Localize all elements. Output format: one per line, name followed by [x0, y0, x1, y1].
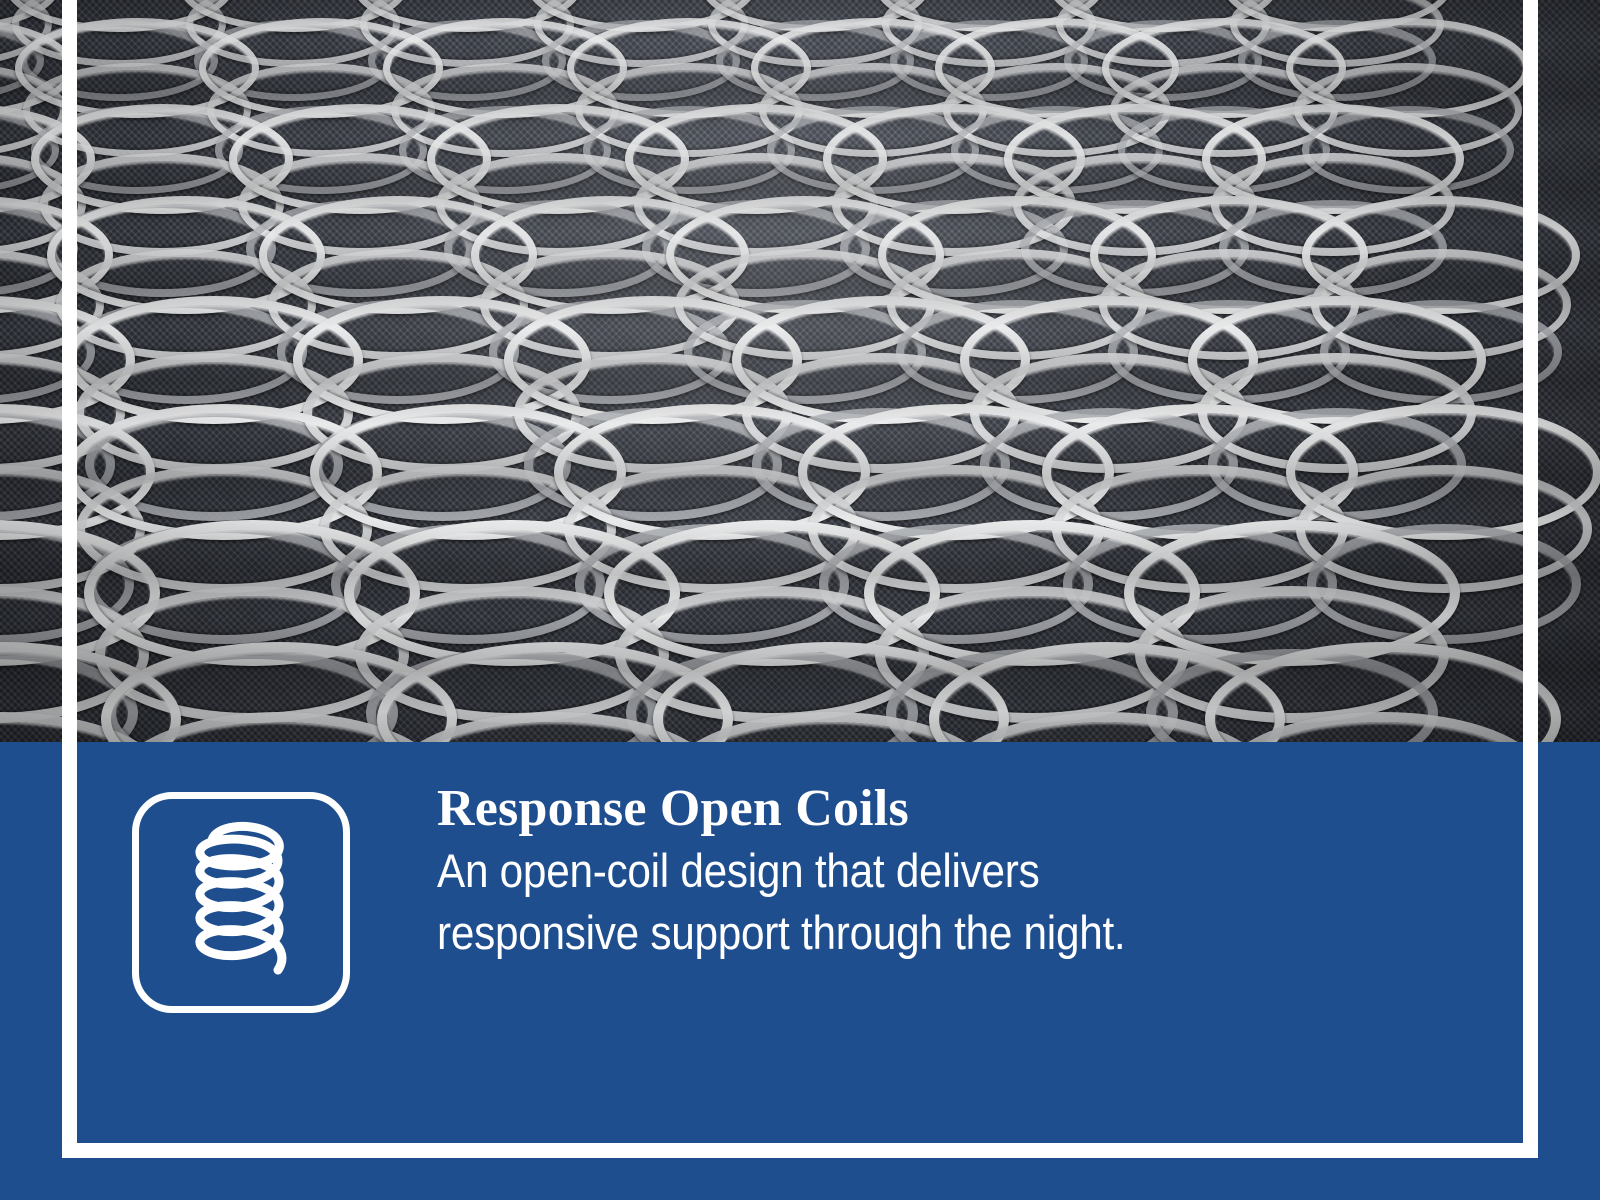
description-line-1: An open-coil design that delivers — [437, 840, 1337, 902]
coil-springs-photo — [0, 0, 1600, 742]
frame-right-rule — [1523, 0, 1538, 1158]
spring-glyph — [186, 818, 296, 988]
frame-bottom-rule — [62, 1143, 1538, 1158]
description-line-2: responsive support through the night. — [437, 902, 1337, 964]
page-title: Response Open Coils — [437, 780, 1437, 838]
photo-vignette — [0, 0, 1600, 742]
feature-card: Response Open Coils An open-coil design … — [0, 0, 1600, 1200]
coil-spring-icon — [132, 792, 350, 1013]
frame-left-rule — [62, 0, 77, 1158]
feature-text: Response Open Coils An open-coil design … — [437, 780, 1437, 964]
